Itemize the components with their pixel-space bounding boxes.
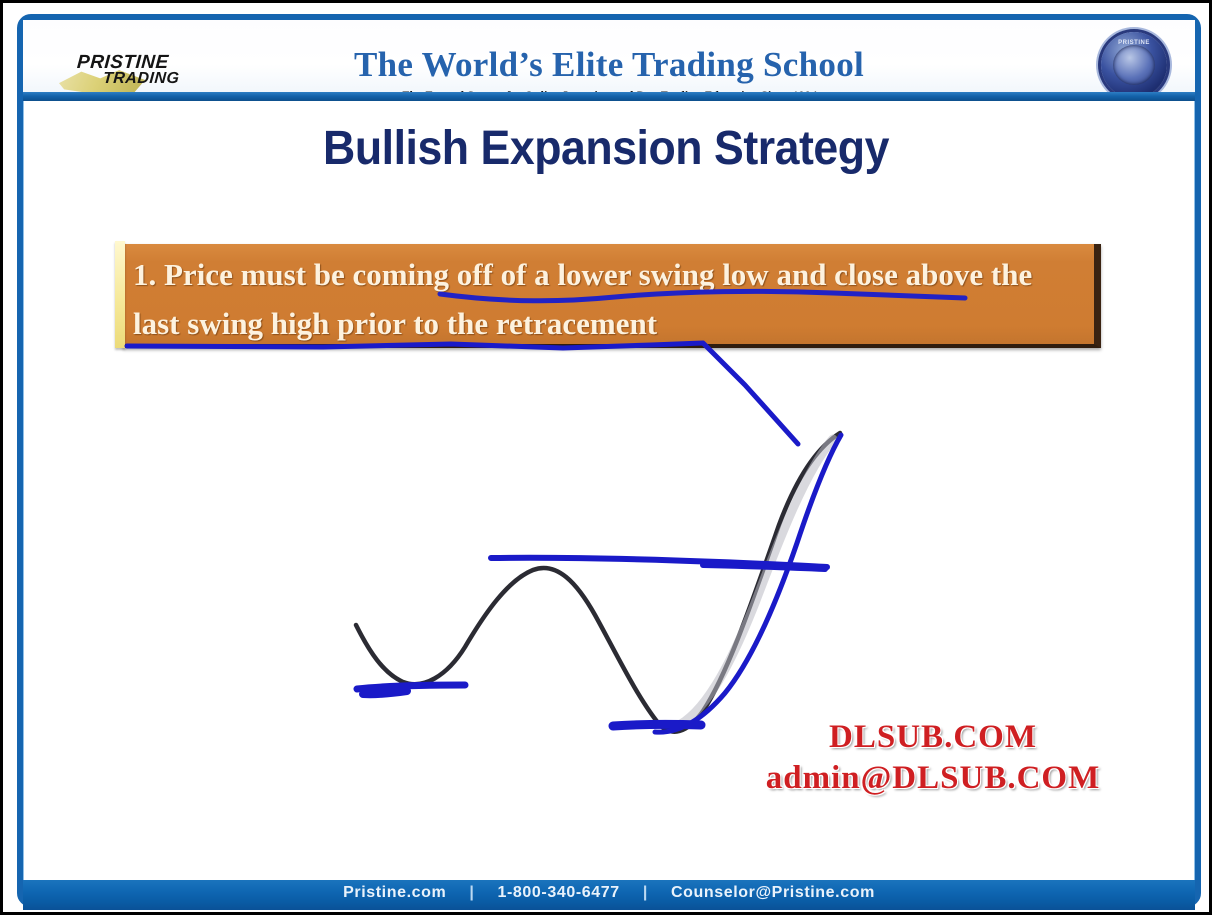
- header-divider: [23, 92, 1195, 101]
- footer-separator-1: |: [451, 884, 492, 902]
- watermark: DLSUB.COM admin@DLSUB.COM: [693, 717, 1173, 799]
- rule-callout-box: 1. Price must be coming off of a lower s…: [123, 244, 1101, 348]
- watermark-site: DLSUB.COM: [693, 717, 1173, 757]
- seal-inner-ring: [1113, 45, 1155, 85]
- pristine-seal-icon: PRISTINE: [1101, 32, 1167, 92]
- slide-header: PRISTINE TRADING The World’s Elite Tradi…: [23, 20, 1195, 92]
- header-title: The World’s Elite Trading School: [23, 45, 1195, 85]
- rule-callout-text: 1. Price must be coming off of a lower s…: [133, 250, 1080, 348]
- callout-left-stripe: [115, 241, 125, 348]
- footer-email[interactable]: Counselor@Pristine.com: [671, 884, 875, 902]
- footer-website[interactable]: Pristine.com: [343, 884, 446, 902]
- footer-contact-bar: Pristine.com | 1-800-340-6477 | Counselo…: [23, 884, 1195, 902]
- slide-footer: Pristine.com | 1-800-340-6477 | Counselo…: [23, 880, 1195, 910]
- watermark-email: admin@DLSUB.COM: [693, 757, 1173, 799]
- presentation-slide: PRISTINE TRADING The World’s Elite Tradi…: [0, 0, 1212, 915]
- footer-separator-2: |: [625, 884, 666, 902]
- footer-phone[interactable]: 1-800-340-6477: [498, 884, 620, 902]
- page-title: Bullish Expansion Strategy: [45, 121, 1167, 176]
